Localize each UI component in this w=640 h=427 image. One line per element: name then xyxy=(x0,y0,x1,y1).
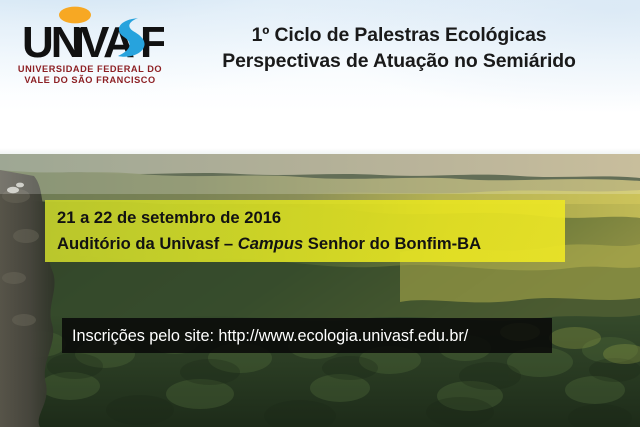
banner-venue-suffix: Senhor do Bonfim-BA xyxy=(303,234,481,253)
banner-venue-prefix: Auditório da Univasf – xyxy=(57,234,238,253)
banner-venue-campus: Campus xyxy=(238,234,303,253)
univasf-logo-text: UNIVERSIDADE FEDERAL DO VALE DO SÃO FRAN… xyxy=(17,64,163,87)
registration-label: Inscrições pelo site: xyxy=(72,327,218,345)
logo-text-line1: UNIVERSIDADE FEDERAL DO xyxy=(17,64,163,75)
title-line-1: 1º Ciclo de Palestras Ecológicas xyxy=(168,22,630,48)
landscape-photo xyxy=(0,148,640,427)
banner-date-line: 21 a 22 de setembro de 2016 xyxy=(57,205,565,231)
poster-canvas: UN VA F UNIVERSIDADE FEDERAL DO VALE DO … xyxy=(0,0,640,427)
title-line-2: Perspectivas de Atuação no Semiárido xyxy=(168,48,630,74)
registration-url-link[interactable]: http://www.ecologia.univasf.edu.br/ xyxy=(218,327,468,345)
registration-url-text: Inscrições pelo site: http://www.ecologi… xyxy=(72,326,468,346)
poster-title: 1º Ciclo de Palestras Ecológicas Perspec… xyxy=(168,22,630,74)
univasf-logo: UN VA F UNIVERSIDADE FEDERAL DO VALE DO … xyxy=(14,6,164,90)
svg-text:UN: UN xyxy=(22,18,80,64)
logo-text-line2: VALE DO SÃO FRANCISCO xyxy=(17,75,163,86)
registration-url-strip: Inscrições pelo site: http://www.ecologi… xyxy=(62,318,552,353)
univasf-wordmark-icon: UN VA F xyxy=(14,6,164,64)
banner-venue-line: Auditório da Univasf – Campus Senhor do … xyxy=(57,231,565,257)
event-details-banner: 21 a 22 de setembro de 2016 Auditório da… xyxy=(45,200,565,262)
